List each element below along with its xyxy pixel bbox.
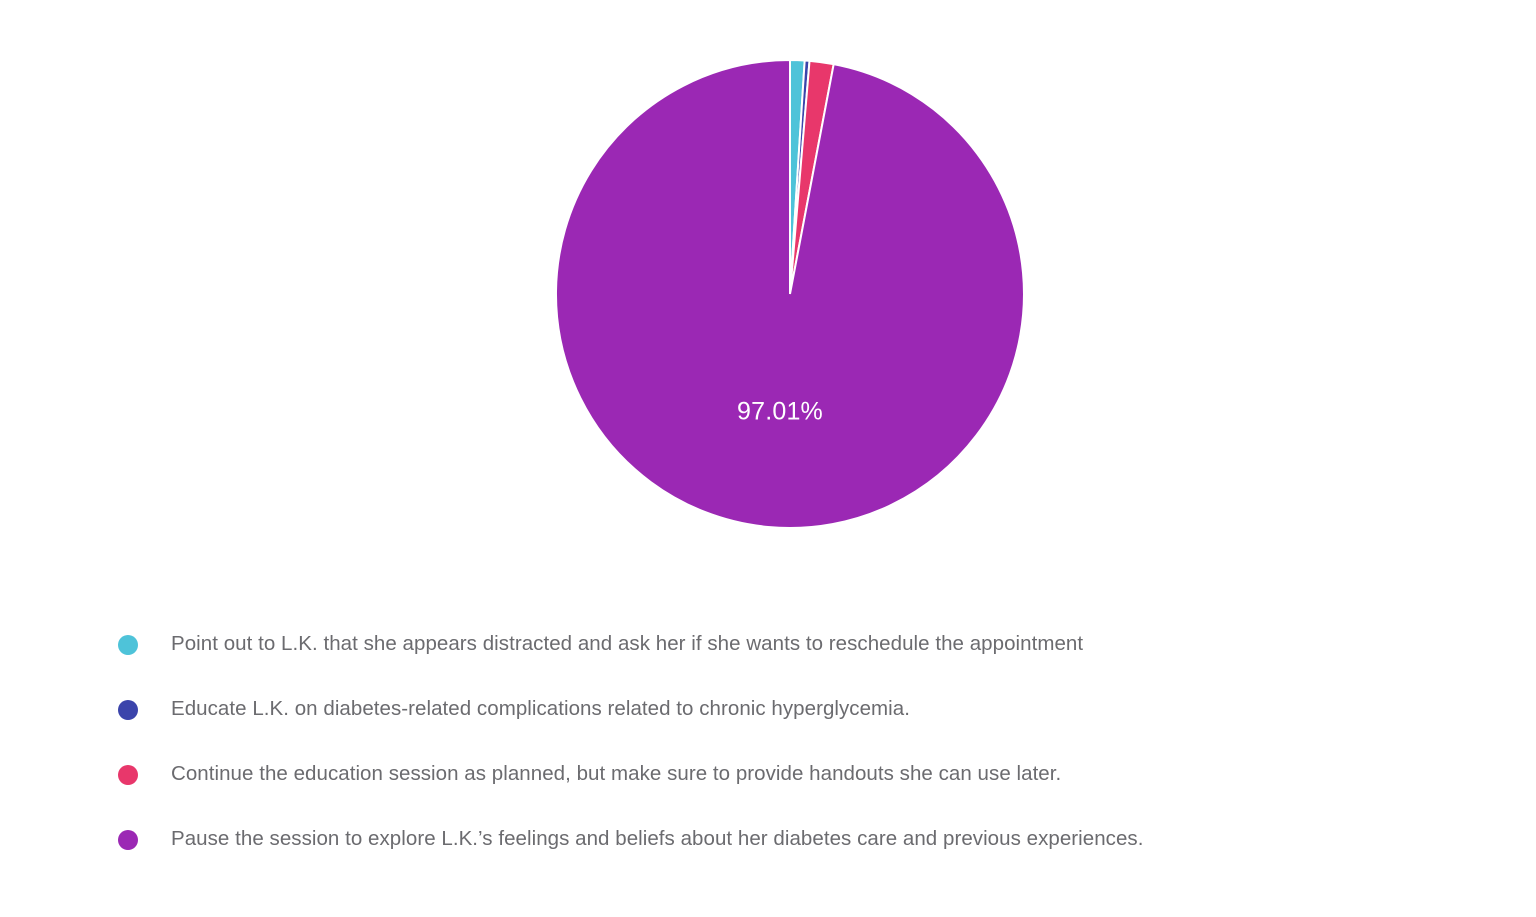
pie-slice[interactable] xyxy=(556,60,1024,528)
pie-slice-percent-label: 97.01% xyxy=(737,398,823,426)
legend-item-label: Pause the session to explore L.K.’s feel… xyxy=(171,827,1143,852)
pie-slice-group xyxy=(556,60,1024,528)
chart-legend: Point out to L.K. that she appears distr… xyxy=(118,612,1468,872)
legend-color-swatch-icon xyxy=(118,700,138,720)
legend-item[interactable]: Educate L.K. on diabetes-related complic… xyxy=(118,677,1468,742)
legend-item[interactable]: Pause the session to explore L.K.’s feel… xyxy=(118,807,1468,872)
pie-chart-figure: 97.01% Point out to L.K. that she appear… xyxy=(0,0,1536,917)
legend-item[interactable]: Continue the education session as planne… xyxy=(118,742,1468,807)
pie-svg: 97.01% xyxy=(0,0,1536,590)
legend-item-label: Educate L.K. on diabetes-related complic… xyxy=(171,697,910,722)
legend-color-swatch-icon xyxy=(118,635,138,655)
legend-item[interactable]: Point out to L.K. that she appears distr… xyxy=(118,612,1468,677)
legend-item-label: Continue the education session as planne… xyxy=(171,762,1061,787)
pie-plot-area: 97.01% xyxy=(0,0,1536,590)
legend-item-label: Point out to L.K. that she appears distr… xyxy=(171,632,1083,657)
legend-color-swatch-icon xyxy=(118,830,138,850)
legend-color-swatch-icon xyxy=(118,765,138,785)
